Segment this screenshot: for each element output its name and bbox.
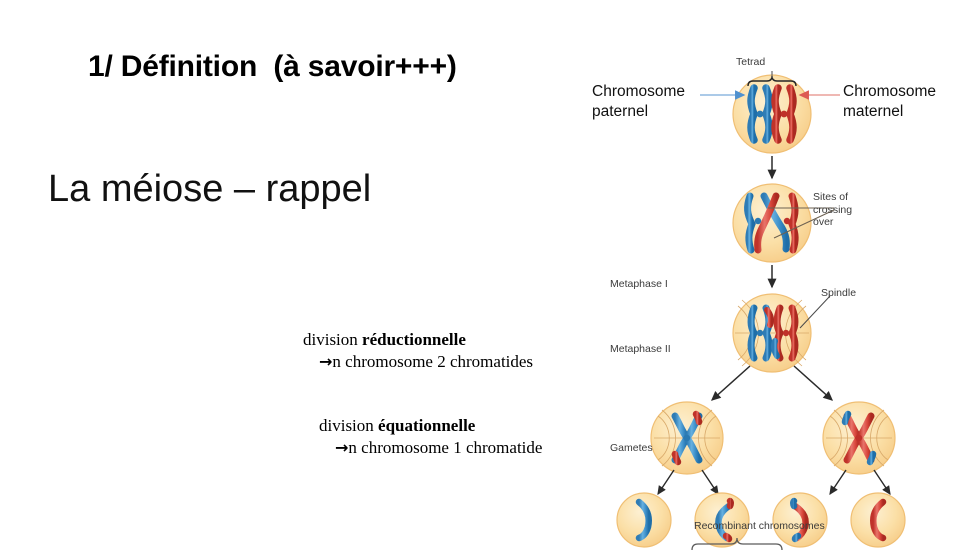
label-chromosome-paternel: Chromosome paternel <box>592 82 685 122</box>
slide-subtitle: La méiose – rappel <box>48 168 371 211</box>
flow-arrow-g3 <box>830 470 846 494</box>
note-equationnelle-emphasis: équationnelle <box>378 416 475 435</box>
note-reductionnelle-detail: n chromosome 2 chromatides <box>332 352 533 371</box>
gamete-4 <box>851 493 905 547</box>
meiosis-figure: Chromosome paternel Chromosome maternel … <box>578 38 962 550</box>
note-reductionnelle-line1: division réductionnelle <box>303 329 533 351</box>
label-metaphase-2: Metaphase II <box>610 343 671 356</box>
label-spindle: Spindle <box>821 287 856 300</box>
label-metaphase-1: Metaphase I <box>610 278 668 291</box>
flow-arrow-g4 <box>874 470 890 494</box>
page-title: 1/ Définition (à savoir+++) <box>88 50 457 84</box>
stage-metaphase-1-cell <box>712 294 832 400</box>
note-reductionnelle-line2: →n chromosome 2 chromatides <box>303 351 533 373</box>
flow-arrow-g1 <box>658 470 674 494</box>
note-reductionnelle-lead: division <box>303 330 362 349</box>
flow-arrow-g2 <box>702 470 718 494</box>
label-gametes: Gametes <box>610 442 653 455</box>
label-sites-of-crossing-over: Sites of crossing over <box>813 191 852 229</box>
note-reductionnelle-emphasis: réductionnelle <box>362 330 466 349</box>
stage-tetrad-cell <box>700 71 840 178</box>
stage-metaphase-2-cell-left <box>651 402 723 494</box>
slide-canvas: 1/ Définition (à savoir+++) La méiose – … <box>0 0 962 560</box>
gamete-1 <box>617 493 671 547</box>
note-equationnelle-line2: →n chromosome 1 chromatide <box>319 437 542 459</box>
note-equationnelle-line1: division équationnelle <box>319 415 542 437</box>
note-reductionnelle: division réductionnelle →n chromosome 2 … <box>303 329 533 374</box>
flow-arrow-left <box>712 366 750 400</box>
label-recombinant-chromosomes: Recombinant chromosomes <box>694 520 825 533</box>
label-chromosome-maternel: Chromosome maternel <box>843 82 936 122</box>
note-equationnelle-lead: division <box>319 416 378 435</box>
arrow-right-icon: → <box>319 352 332 371</box>
stage-metaphase-2-cell-right <box>823 402 895 494</box>
arrow-right-icon: → <box>335 438 348 457</box>
label-tetrad: Tetrad <box>736 56 765 69</box>
note-equationnelle-detail: n chromosome 1 chromatide <box>348 438 542 457</box>
note-equationnelle: division équationnelle →n chromosome 1 c… <box>319 415 542 460</box>
flow-arrow-right <box>794 366 832 400</box>
